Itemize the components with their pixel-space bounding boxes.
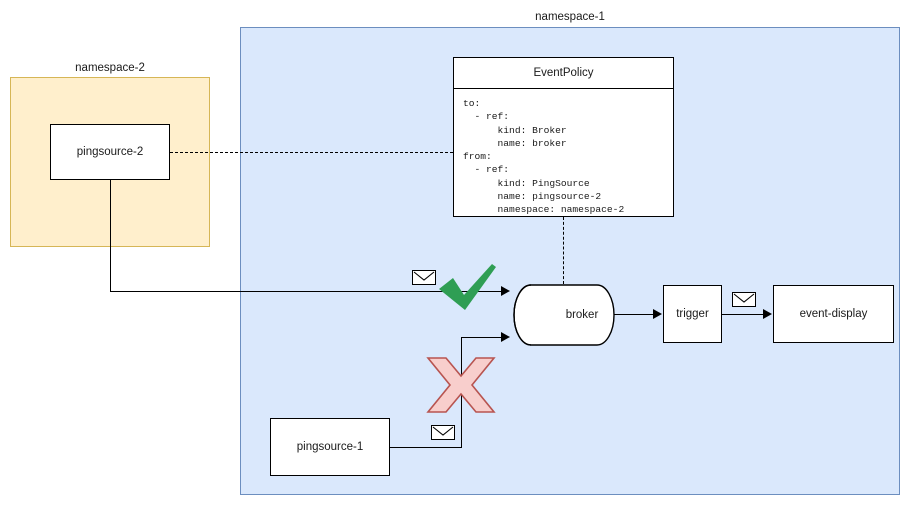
node-event-display[interactable]: event-display: [773, 285, 894, 343]
edge-pingsource2-arrowhead: [501, 286, 510, 296]
node-broker-label: broker: [549, 284, 615, 346]
node-pingsource-2-label: pingsource-2: [77, 146, 143, 158]
edge-pingsource2-vertical: [110, 180, 111, 291]
node-pingsource-1[interactable]: pingsource-1: [270, 418, 390, 476]
edge-pingsource1-horizontal: [390, 447, 462, 448]
node-pingsource-2[interactable]: pingsource-2: [50, 124, 170, 180]
node-pingsource-1-label: pingsource-1: [297, 441, 363, 453]
edge-trigger-eventdisplay-arrowhead: [763, 309, 772, 319]
cross-mark-icon: [424, 354, 498, 421]
envelope-icon-allowed: [412, 270, 436, 285]
event-policy-spec: to: - ref: kind: Broker name: broker fro…: [454, 89, 673, 217]
node-event-display-label: event-display: [800, 308, 868, 320]
namespace-2-label: namespace-2: [10, 61, 210, 75]
edge-trigger-eventdisplay: [722, 314, 764, 315]
namespace-1-label: namespace-1: [240, 10, 900, 24]
envelope-icon-delivery: [732, 292, 756, 307]
node-broker[interactable]: broker: [513, 284, 615, 346]
check-mark-icon: [436, 262, 498, 319]
edge-policy-to-broker: [563, 217, 564, 284]
edge-pingsource1-to-broker: [461, 337, 502, 338]
edge-policy-from-pingsource2: [170, 152, 453, 153]
edge-broker-trigger-arrowhead: [653, 309, 662, 319]
node-trigger[interactable]: trigger: [663, 285, 722, 343]
event-policy-title: EventPolicy: [454, 58, 673, 89]
diagram-canvas: namespace-1 namespace-2 pingsource-2 pin…: [0, 0, 911, 508]
edge-broker-trigger: [614, 314, 654, 315]
node-trigger-label: trigger: [676, 308, 709, 320]
edge-pingsource1-arrowhead: [501, 332, 510, 342]
event-policy-card[interactable]: EventPolicy to: - ref: kind: Broker name…: [453, 57, 674, 217]
envelope-icon-denied: [431, 425, 455, 440]
